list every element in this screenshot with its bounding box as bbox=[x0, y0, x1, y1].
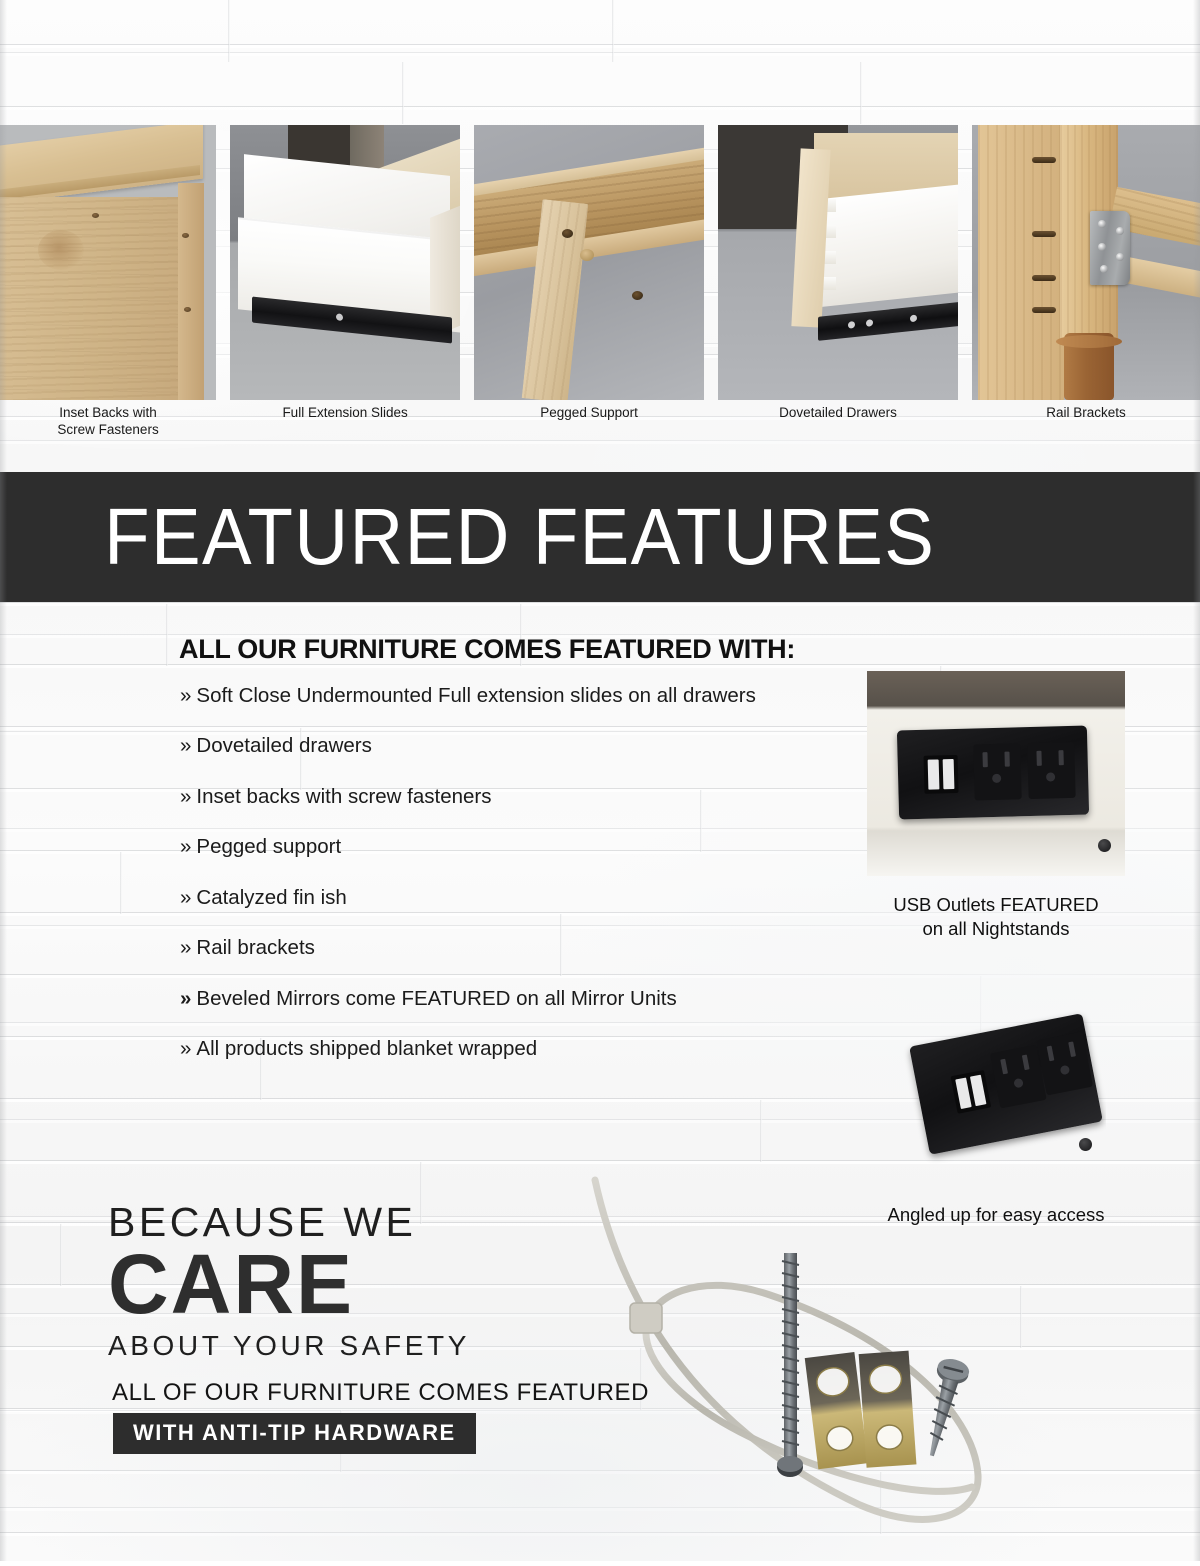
photo-caption: Rail Brackets bbox=[972, 402, 1200, 448]
page-edge-right bbox=[1193, 0, 1200, 1561]
photo-caption: Dovetailed Drawers bbox=[718, 402, 958, 448]
feature-list-item: »Inset backs with screw fasteners bbox=[180, 783, 870, 810]
feature-text: Inset backs with screw fasteners bbox=[196, 785, 491, 808]
features-heading: ALL OUR FURNITURE COMES FEATURED WITH: bbox=[179, 634, 795, 665]
bullet-marker: » bbox=[180, 886, 191, 909]
feature-text: Pegged support bbox=[196, 835, 341, 858]
photo-strip-captions: Inset Backs with Screw Fasteners Full Ex… bbox=[0, 402, 1200, 448]
banner-title: FEATURED FEATURES bbox=[0, 491, 935, 583]
feature-text: Dovetailed drawers bbox=[196, 734, 371, 757]
featured-features-banner: FEATURED FEATURES bbox=[0, 472, 1200, 602]
photo-rail-brackets bbox=[972, 125, 1200, 400]
bullet-marker: » bbox=[180, 734, 191, 757]
features-list: »Soft Close Undermounted Full extension … bbox=[180, 682, 870, 1086]
photo-pegged-support bbox=[474, 125, 704, 400]
bullet-marker: » bbox=[180, 987, 191, 1010]
feature-text: Beveled Mirrors come FEATURED on all Mir… bbox=[196, 987, 676, 1010]
feature-text: Catalyzed fin ish bbox=[196, 886, 346, 909]
ac-socket-icon bbox=[1027, 742, 1075, 799]
feature-text: Rail brackets bbox=[196, 936, 315, 959]
feature-text: Soft Close Undermounted Full extension s… bbox=[196, 684, 755, 707]
feature-photo-strip bbox=[0, 125, 1200, 400]
outlet-plate bbox=[909, 1013, 1103, 1155]
bullet-marker: » bbox=[180, 936, 191, 959]
because-we-care-block: BECAUSE WE CARE ABOUT YOUR SAFETY bbox=[108, 1202, 528, 1362]
ac-socket-icon bbox=[973, 743, 1021, 800]
usb-photo-caption: USB Outlets FEATURED on all Nightstands bbox=[855, 893, 1137, 940]
photo-inset-backs bbox=[0, 125, 216, 400]
mounting-screw-icon bbox=[1079, 1138, 1092, 1151]
brass-l-bracket bbox=[805, 1352, 868, 1469]
feature-list-item: »Beveled Mirrors come FEATURED on all Mi… bbox=[180, 985, 870, 1012]
bullet-marker: » bbox=[180, 684, 191, 707]
usb-outlet-photo bbox=[867, 671, 1125, 876]
mounting-screw-icon bbox=[1098, 839, 1111, 852]
brass-l-bracket bbox=[859, 1351, 917, 1468]
usb-outlet-angled-photo bbox=[878, 985, 1106, 1175]
photo-caption: Inset Backs with Screw Fasteners bbox=[0, 402, 216, 448]
feature-list-item: »All products shipped blanket wrapped bbox=[180, 1035, 870, 1062]
bullet-marker: » bbox=[180, 1037, 191, 1060]
feature-text: All products shipped blanket wrapped bbox=[196, 1037, 537, 1060]
photo-caption: Full Extension Slides bbox=[230, 402, 460, 448]
outlet-plate bbox=[897, 726, 1089, 820]
anti-tip-hardware-illustration bbox=[560, 1175, 990, 1561]
anti-tip-hardware-badge: WITH ANTI-TIP HARDWARE bbox=[113, 1413, 476, 1454]
bullet-marker: » bbox=[180, 785, 191, 808]
usb-ports-icon bbox=[951, 1070, 992, 1114]
feature-list-item: »Dovetailed drawers bbox=[180, 732, 870, 759]
page-edge-left bbox=[0, 0, 7, 1561]
long-threaded-screw bbox=[777, 1253, 803, 1477]
care-line-2: CARE bbox=[108, 1245, 528, 1323]
feature-list-item: »Pegged support bbox=[180, 833, 870, 860]
ac-socket-icon bbox=[1036, 1031, 1093, 1095]
bullet-marker: » bbox=[180, 835, 191, 858]
feature-list-item: »Catalyzed fin ish bbox=[180, 884, 870, 911]
wood-screw bbox=[916, 1356, 971, 1460]
usb-ports-icon bbox=[924, 755, 959, 794]
photo-caption: Pegged Support bbox=[474, 402, 704, 448]
photo-dovetailed-drawers bbox=[718, 125, 958, 400]
care-line-4: ALL OF OUR FURNITURE COMES FEATURED bbox=[112, 1379, 649, 1407]
care-line-3: ABOUT YOUR SAFETY bbox=[108, 1330, 528, 1362]
feature-list-item: »Rail brackets bbox=[180, 934, 870, 961]
page-root: Inset Backs with Screw Fasteners Full Ex… bbox=[0, 0, 1200, 1561]
feature-list-item: »Soft Close Undermounted Full extension … bbox=[180, 682, 870, 709]
photo-full-extension-slides bbox=[230, 125, 460, 400]
